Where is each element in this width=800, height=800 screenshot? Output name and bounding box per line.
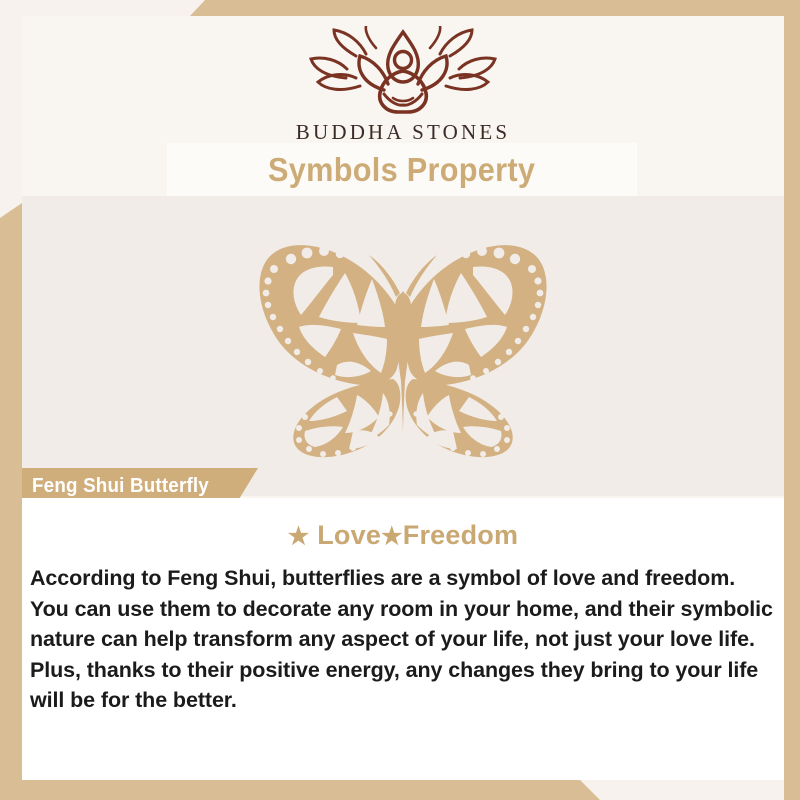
brand-wordmark: BUDDHA STONES [22, 120, 784, 145]
content-panel: BUDDHA STONES Symbols Property [22, 16, 784, 780]
gold-bottom-border [0, 780, 800, 800]
description-paragraph: According to Feng Shui, butterflies are … [30, 563, 774, 716]
hero-illustration-area [22, 196, 784, 496]
gold-left-border [0, 0, 22, 800]
subtitle-love-freedom: ★ Love★Freedom [22, 520, 784, 551]
lotus-meditation-logo-icon [22, 26, 784, 118]
monarch-butterfly-illustration-icon [233, 231, 573, 461]
page-root: BUDDHA STONES Symbols Property [0, 0, 800, 800]
gold-top-border [0, 0, 800, 16]
brand-logo-block: BUDDHA STONES [22, 16, 784, 145]
description-card: ★ Love★Freedom According to Feng Shui, b… [22, 498, 784, 780]
gold-right-border [784, 0, 800, 800]
star-icon-middle: ★ [381, 523, 403, 550]
subtitle-word-love: Love [310, 520, 382, 550]
title-ribbon: Symbols Property [167, 143, 637, 196]
subtitle-word-freedom: Freedom [403, 520, 518, 550]
tag-label: Feng Shui Butterfly [32, 475, 209, 498]
star-icon-left: ★ [288, 523, 310, 550]
page-title: Symbols Property [268, 151, 535, 189]
